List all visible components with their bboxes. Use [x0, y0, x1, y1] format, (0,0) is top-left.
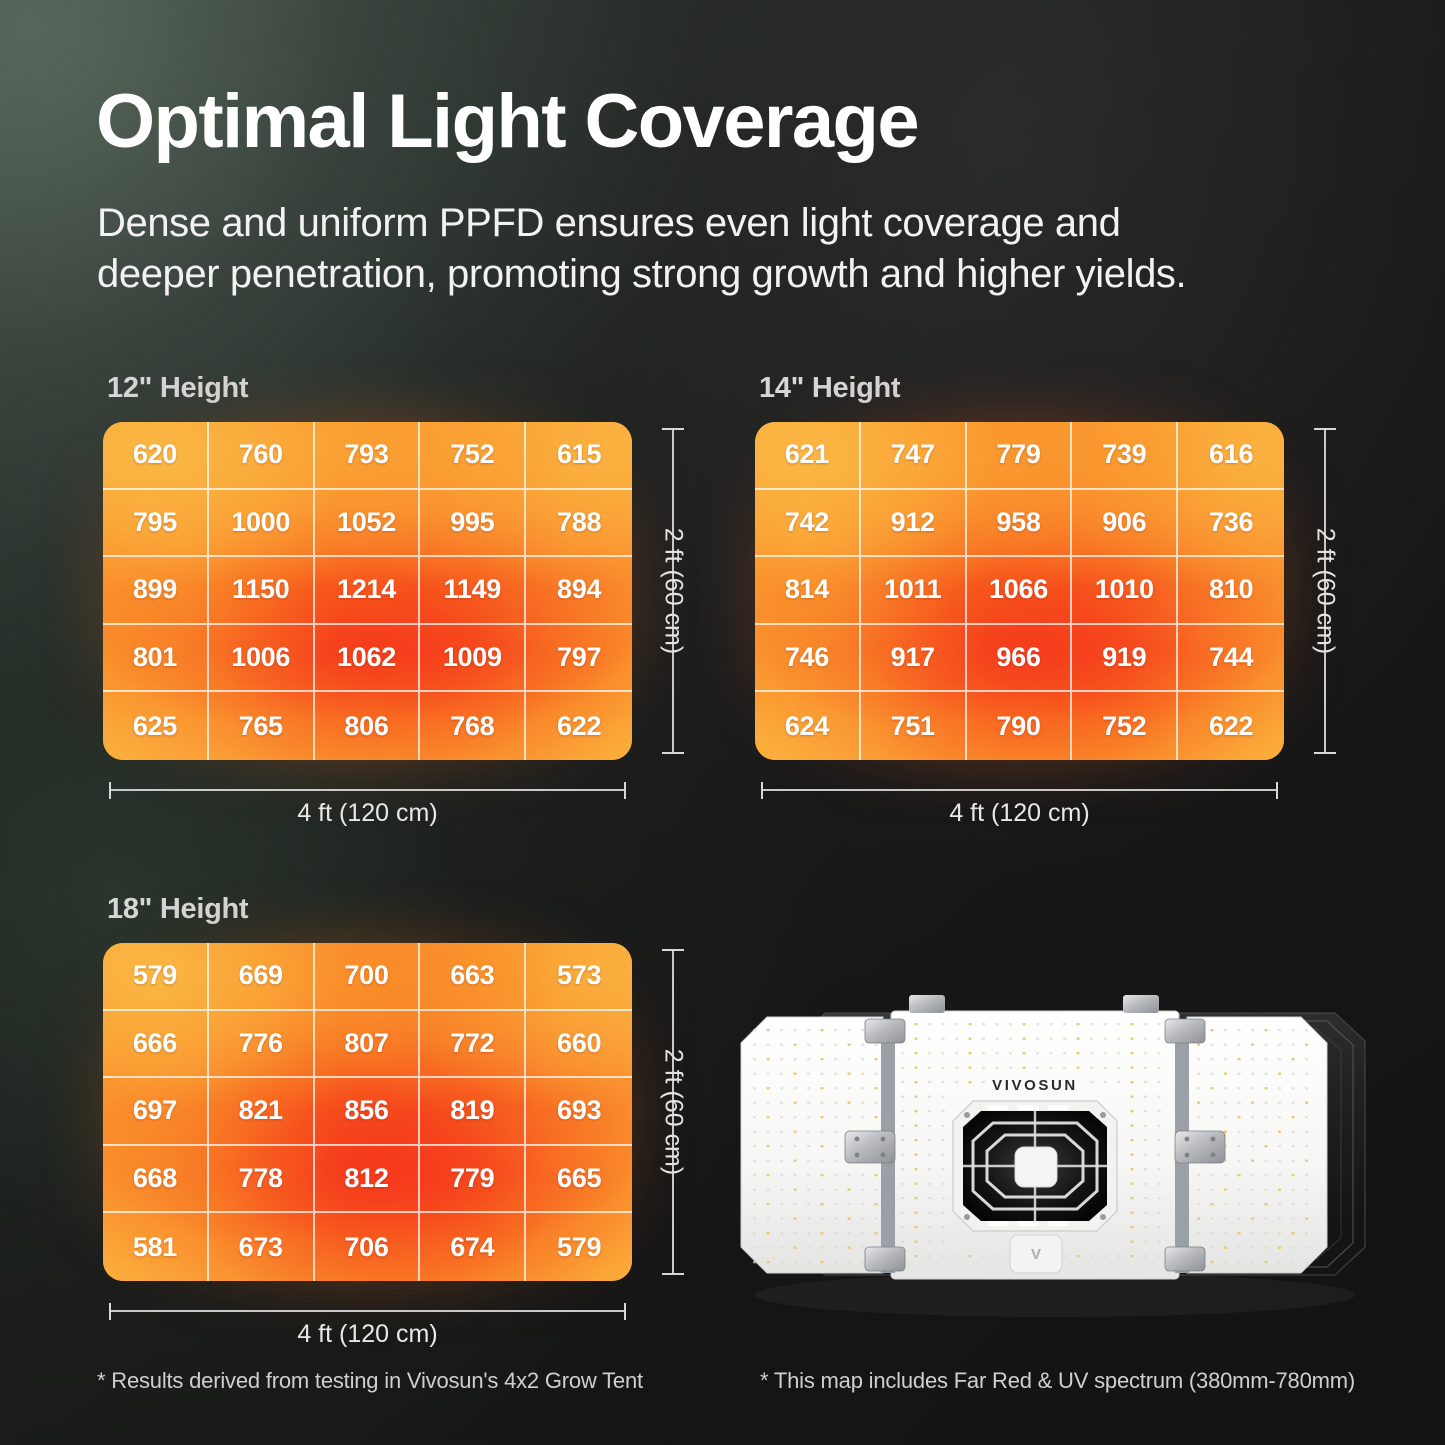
heatmap-cell-value: 752 [1102, 711, 1146, 742]
heatmap-cell-value: 579 [133, 960, 177, 991]
heatmap-cell: 752 [420, 422, 526, 490]
heatmap-cell-value: 790 [996, 711, 1040, 742]
heatmap-cell-value: 751 [891, 711, 935, 742]
dimension-line-horizontal [109, 1310, 626, 1312]
subtitle-line-1: Dense and uniform PPFD ensures even ligh… [97, 198, 1186, 249]
heatmap-cell: 906 [1072, 490, 1178, 558]
heatmap-grid: 5796697006635736667768077726606978218568… [103, 943, 632, 1281]
heatmap-grid-wrap: 6217477797396167429129589067368141011106… [755, 422, 1284, 760]
heatmap-cell: 751 [861, 692, 967, 760]
heatmap-cell: 765 [209, 692, 315, 760]
heatmap-cell-value: 624 [785, 711, 829, 742]
heatmap-cell-value: 810 [1209, 574, 1253, 605]
heatmap-cell: 622 [1178, 692, 1284, 760]
heatmap-cell-value: 995 [450, 507, 494, 538]
heatmap-cell-value: 620 [133, 439, 177, 470]
heatmap-cell-value: 772 [450, 1028, 494, 1059]
heatmap-cell-value: 660 [557, 1028, 601, 1059]
heatmap-cell: 807 [315, 1011, 421, 1079]
heatmap-cell-value: 581 [133, 1232, 177, 1263]
heatmap-cell: 768 [420, 692, 526, 760]
heatmap-cell-value: 806 [344, 711, 388, 742]
heatmap-cell-value: 1000 [231, 507, 290, 538]
heatmap-cell: 778 [209, 1146, 315, 1214]
heatmap-cell-value: 906 [1102, 507, 1146, 538]
fan-housing [953, 1101, 1117, 1231]
heatmap-cell: 821 [209, 1078, 315, 1146]
heatmap-cell-value: 768 [450, 711, 494, 742]
heatmap-cell: 1150 [209, 557, 315, 625]
heatmap-cell: 625 [103, 692, 209, 760]
dimension-cap-top [662, 949, 684, 951]
heatmap-cell: 795 [103, 490, 209, 558]
heatmap-cell: 1006 [209, 625, 315, 693]
page-subtitle: Dense and uniform PPFD ensures even ligh… [97, 198, 1186, 300]
heatmap-cell-value: 668 [133, 1163, 177, 1194]
dimension-height-label: 2 ft (60 cm) [1311, 528, 1340, 654]
heatmap-cell: 797 [526, 625, 632, 693]
dimension-line-horizontal [109, 789, 626, 791]
heatmap-cell-value: 747 [891, 439, 935, 470]
heatmap-cell-value: 812 [344, 1163, 388, 1194]
heatmap-cell: 663 [420, 943, 526, 1011]
heatmap-cell: 966 [967, 625, 1073, 693]
heatmap-cell: 814 [755, 557, 861, 625]
heatmap-cell: 616 [1178, 422, 1284, 490]
dimension-width: 4 ft (120 cm) [755, 782, 1284, 828]
heatmap-cell: 1062 [315, 625, 421, 693]
heatmap-cell-value: 912 [891, 507, 935, 538]
heatmap-cell-value: 1006 [231, 642, 290, 673]
dimension-height: 2 ft (60 cm) [1308, 422, 1342, 760]
heatmap-cell-value: 807 [344, 1028, 388, 1059]
heatmap-cell-value: 573 [557, 960, 601, 991]
control-button[interactable]: V [1010, 1235, 1062, 1273]
heatmap-cell-value: 616 [1209, 439, 1253, 470]
heatmap-cell-value: 917 [891, 642, 935, 673]
heatmap-cell: 744 [1178, 625, 1284, 693]
product-image-grow-light: VIVOSUN [705, 955, 1375, 1325]
heatmap-cell: 747 [861, 422, 967, 490]
heatmap-cell-value: 744 [1209, 642, 1253, 673]
heatmap-cell-value: 739 [1102, 439, 1146, 470]
heatmap-cell: 674 [420, 1213, 526, 1281]
heatmap-cell: 742 [755, 490, 861, 558]
heatmap-cell: 660 [526, 1011, 632, 1079]
heatmap-cell-value: 1011 [884, 574, 941, 605]
dimension-cap-bottom [1314, 752, 1336, 754]
product-brand-label: VIVOSUN [992, 1077, 1078, 1094]
heatmap-cell: 958 [967, 490, 1073, 558]
footnote-left: * Results derived from testing in Vivosu… [97, 1368, 643, 1394]
heatmap-cell: 894 [526, 557, 632, 625]
heatmap-cell-value: 1214 [337, 574, 396, 605]
dimension-cap-left [109, 782, 111, 799]
heatmap-cell-value: 966 [996, 642, 1040, 673]
heatmap-cell: 669 [209, 943, 315, 1011]
dimension-width: 4 ft (120 cm) [103, 782, 632, 828]
dimension-height: 2 ft (60 cm) [656, 943, 690, 1281]
heatmap-cell-value: 669 [239, 960, 283, 991]
heatmap-cell-value: 919 [1102, 642, 1146, 673]
heatmap-cell: 779 [420, 1146, 526, 1214]
heatmap-cell-value: 752 [450, 439, 494, 470]
heatmap-cell: 912 [861, 490, 967, 558]
heatmap-cell-value: 736 [1209, 507, 1253, 538]
heatmap-cell: 779 [967, 422, 1073, 490]
heatmap-cell-value: 621 [785, 439, 829, 470]
heatmap-cell-value: 1010 [1095, 574, 1154, 605]
heatmap-cell-value: 958 [996, 507, 1040, 538]
heatmap-cell-value: 1009 [443, 642, 502, 673]
grow-light-svg: VIVOSUN [705, 955, 1375, 1325]
heatmap-cell-value: 795 [133, 507, 177, 538]
footnote-right: * This map includes Far Red & UV spectru… [760, 1368, 1355, 1394]
heatmap-cell-value: 779 [450, 1163, 494, 1194]
heatmap-cell-value: 673 [239, 1232, 283, 1263]
heatmap-cell-value: 819 [450, 1095, 494, 1126]
dimension-width-label: 4 ft (120 cm) [103, 1320, 632, 1349]
heatmap-cell: 788 [526, 490, 632, 558]
heatmap-cell: 665 [526, 1146, 632, 1214]
heatmap-cell: 573 [526, 943, 632, 1011]
heatmap-cell: 1000 [209, 490, 315, 558]
heatmap-cell: 772 [420, 1011, 526, 1079]
heatmap-cell-value: 693 [557, 1095, 601, 1126]
heatmap-cell: 620 [103, 422, 209, 490]
heatmap-cell-value: 665 [557, 1163, 601, 1194]
heatmap-grid: 6217477797396167429129589067368141011106… [755, 422, 1284, 760]
heatmap-cell-value: 778 [239, 1163, 283, 1194]
heatmap-cell: 1214 [315, 557, 421, 625]
heatmap-cell: 615 [526, 422, 632, 490]
control-button-glyph: V [1031, 1246, 1041, 1263]
heatmap-cell: 899 [103, 557, 209, 625]
heatmap-cell-value: 776 [239, 1028, 283, 1059]
heatmap-cell-value: 579 [557, 1232, 601, 1263]
heatmap-cell-value: 1150 [232, 574, 289, 605]
heatmap-cell: 760 [209, 422, 315, 490]
heatmap-title: 12" Height [107, 372, 248, 405]
heatmap-cell-value: 793 [344, 439, 388, 470]
heatmap-grid: 6207607937526157951000105299578889911501… [103, 422, 632, 760]
dimension-height-label: 2 ft (60 cm) [659, 1049, 688, 1175]
page-title: Optimal Light Coverage [96, 82, 918, 161]
heatmap-cell: 746 [755, 625, 861, 693]
heatmap-cell: 776 [209, 1011, 315, 1079]
subtitle-line-2: deeper penetration, promoting strong gro… [97, 249, 1186, 300]
heatmap-cell-value: 899 [133, 574, 177, 605]
heatmap-cell: 793 [315, 422, 421, 490]
heatmap-cell-value: 622 [1209, 711, 1253, 742]
dimension-height-label: 2 ft (60 cm) [659, 528, 688, 654]
heatmap-cell-value: 760 [239, 439, 283, 470]
dimension-line-horizontal [761, 789, 1278, 791]
heatmap-cell-value: 779 [996, 439, 1040, 470]
heatmap-cell: 917 [861, 625, 967, 693]
heatmap-cell-value: 821 [239, 1095, 283, 1126]
heatmap-cell: 622 [526, 692, 632, 760]
heatmap-cell: 919 [1072, 625, 1178, 693]
heatmap-cell-value: 801 [133, 642, 177, 673]
dimension-cap-bottom [662, 1273, 684, 1275]
dimension-width-label: 4 ft (120 cm) [103, 799, 632, 828]
heatmap-cell: 666 [103, 1011, 209, 1079]
heatmap-cell-value: 663 [450, 960, 494, 991]
heatmap-cell: 739 [1072, 422, 1178, 490]
heatmap-cell-value: 615 [557, 439, 601, 470]
heatmap-cell-value: 1066 [989, 574, 1048, 605]
heatmap-cell-value: 788 [557, 507, 601, 538]
heatmap-cell: 752 [1072, 692, 1178, 760]
heatmap-cell: 790 [967, 692, 1073, 760]
dimension-cap-top [1314, 428, 1336, 430]
heatmap-cell-value: 797 [557, 642, 601, 673]
heatmap-cell-value: 697 [133, 1095, 177, 1126]
dimension-cap-right [624, 1303, 626, 1320]
heatmap-cell: 706 [315, 1213, 421, 1281]
heatmap-grid-wrap: 6207607937526157951000105299578889911501… [103, 422, 632, 760]
heatmap-cell: 995 [420, 490, 526, 558]
heatmap-cell-value: 1062 [337, 642, 396, 673]
heatmap-cell: 1052 [315, 490, 421, 558]
heatmap-cell: 668 [103, 1146, 209, 1214]
heatmap-title: 18" Height [107, 893, 248, 926]
dimension-width-label: 4 ft (120 cm) [755, 799, 1284, 828]
heatmap-cell-value: 856 [344, 1095, 388, 1126]
dimension-cap-top [662, 428, 684, 430]
heatmap-cell: 700 [315, 943, 421, 1011]
heatmap-cell: 621 [755, 422, 861, 490]
heatmap-cell-value: 625 [133, 711, 177, 742]
heatmap-cell: 810 [1178, 557, 1284, 625]
heatmap-cell: 624 [755, 692, 861, 760]
infographic-page: Optimal Light Coverage Dense and uniform… [0, 0, 1445, 1445]
heatmap-cell: 856 [315, 1078, 421, 1146]
heatmap-cell: 819 [420, 1078, 526, 1146]
heatmap-grid-wrap: 5796697006635736667768077726606978218568… [103, 943, 632, 1281]
heatmap-title: 14" Height [759, 372, 900, 405]
heatmap-cell-value: 765 [239, 711, 283, 742]
heatmap-cell: 579 [526, 1213, 632, 1281]
heatmap-cell: 801 [103, 625, 209, 693]
heatmap-cell: 579 [103, 943, 209, 1011]
dimension-cap-right [1276, 782, 1278, 799]
heatmap-cell: 736 [1178, 490, 1284, 558]
heatmap-cell-value: 814 [785, 574, 829, 605]
heatmap-cell-value: 746 [785, 642, 829, 673]
heatmap-cell: 1066 [967, 557, 1073, 625]
heatmap-cell: 673 [209, 1213, 315, 1281]
heatmap-cell-value: 622 [557, 711, 601, 742]
heatmap-cell-value: 706 [344, 1232, 388, 1263]
heatmap-cell: 1009 [420, 625, 526, 693]
heatmap-cell: 1010 [1072, 557, 1178, 625]
heatmap-cell: 581 [103, 1213, 209, 1281]
heatmap-cell-value: 742 [785, 507, 829, 538]
heatmap-cell-value: 700 [344, 960, 388, 991]
dimension-width: 4 ft (120 cm) [103, 1303, 632, 1349]
heatmap-cell: 1149 [420, 557, 526, 625]
heatmap-cell-value: 666 [133, 1028, 177, 1059]
heatmap-cell-value: 1052 [337, 507, 396, 538]
heatmap-cell-value: 1149 [444, 574, 501, 605]
heatmap-cell: 697 [103, 1078, 209, 1146]
heatmap-cell-value: 894 [557, 574, 601, 605]
dimension-cap-left [761, 782, 763, 799]
dimension-height: 2 ft (60 cm) [656, 422, 690, 760]
dimension-cap-left [109, 1303, 111, 1320]
heatmap-cell-value: 674 [450, 1232, 494, 1263]
heatmap-cell: 812 [315, 1146, 421, 1214]
heatmap-cell: 806 [315, 692, 421, 760]
dimension-cap-bottom [662, 752, 684, 754]
dimension-cap-right [624, 782, 626, 799]
heatmap-cell: 693 [526, 1078, 632, 1146]
heatmap-cell: 1011 [861, 557, 967, 625]
